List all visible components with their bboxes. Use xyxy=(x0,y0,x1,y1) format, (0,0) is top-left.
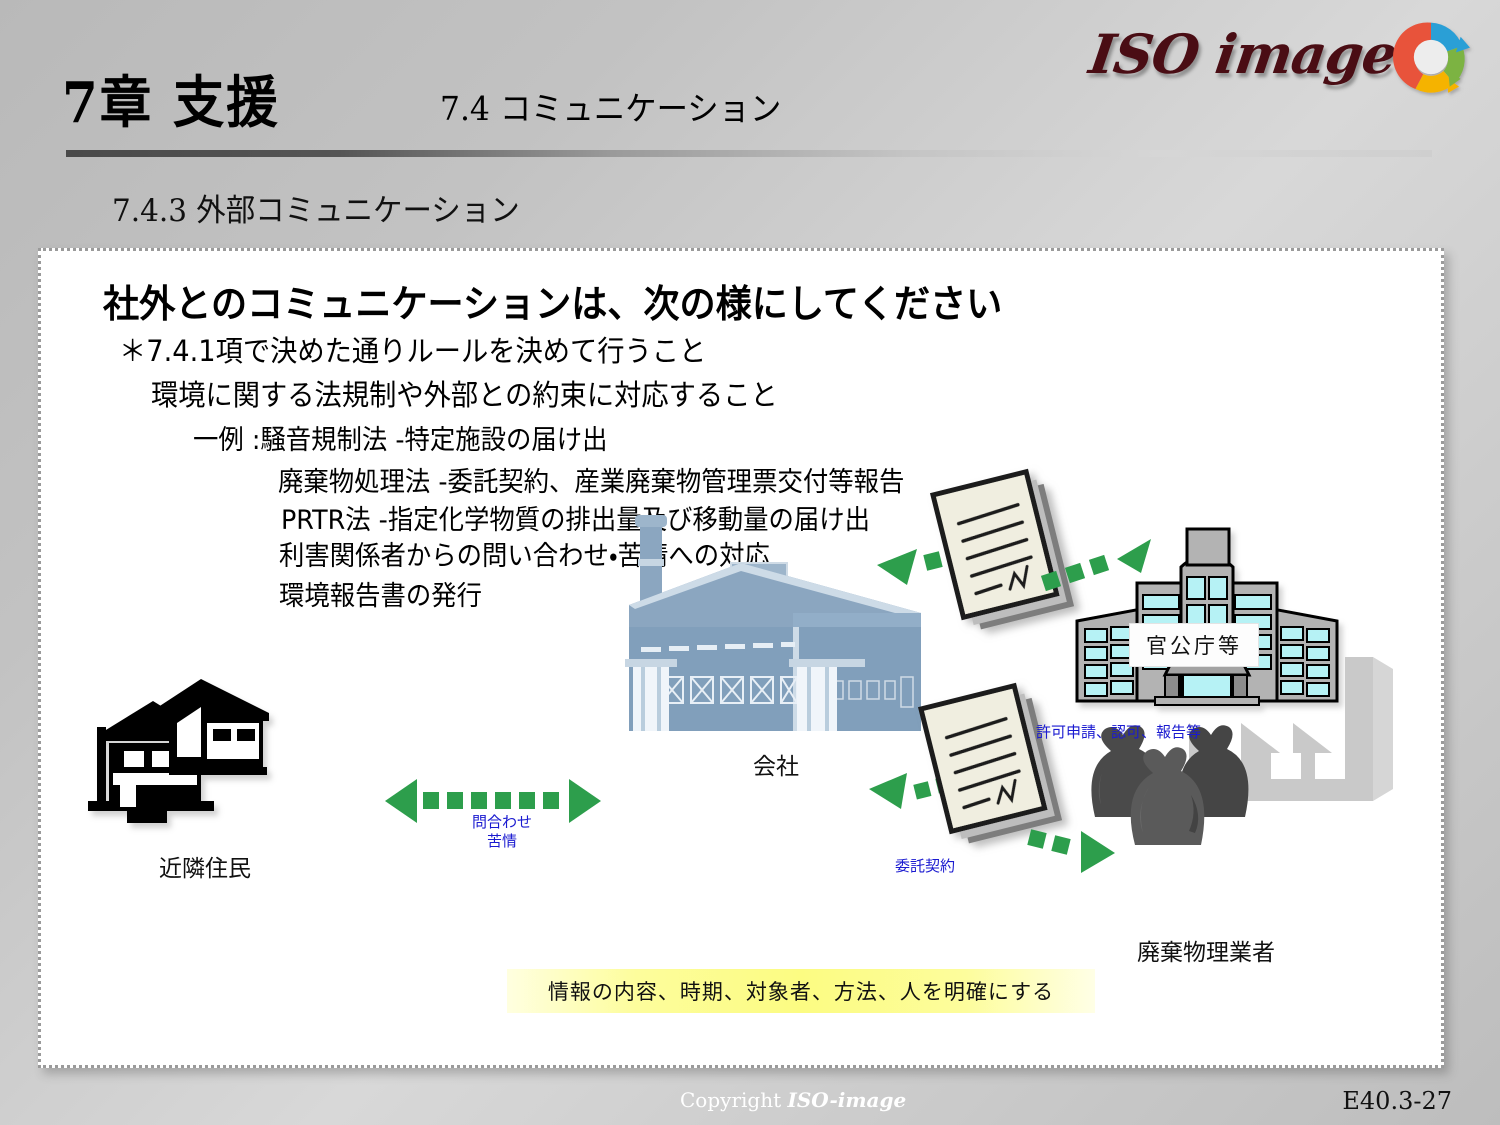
garbage-bags-icon xyxy=(1091,725,1248,845)
body-line-4: 廃棄物処理法 -委託契約、産業廃棄物管理票交付等報告 xyxy=(278,469,904,496)
panel-heading: 社外とのコミュニケーションは、次の様にしてください xyxy=(103,273,1002,328)
iso-image-logo: ISO image xyxy=(1078,8,1478,108)
label-arrow-government: 許可申請、認可、報告等 xyxy=(1036,723,1201,742)
residents-houses-icon xyxy=(88,679,269,823)
page-code: E40.3-27 xyxy=(1342,1087,1452,1115)
summary-banner-text: 情報の内容、時期、対象者、方法、人を明確にする xyxy=(548,976,1054,1006)
copyright-brand: ISO-image xyxy=(787,1088,906,1112)
slide-footer: Copyright ISO-image E40.3-27 xyxy=(0,1080,1500,1125)
copyright-notice: Copyright ISO-image xyxy=(680,1088,906,1112)
body-line-3: 一例 :騒音規制法 -特定施設の届け出 xyxy=(193,427,608,454)
label-government-tag: 官公庁等 xyxy=(1129,623,1259,667)
document-icon-contract xyxy=(921,682,1062,846)
label-company: 会社 xyxy=(681,747,871,781)
copyright-prefix: Copyright xyxy=(680,1088,781,1112)
body-line-1: ＊7.4.1項で決めた通りルールを決めて行うこと xyxy=(119,337,706,366)
section-title: 7.4.3 外部コミュニケーション xyxy=(112,185,520,230)
label-waste-company: 廃棄物理業者 xyxy=(1081,933,1331,967)
content-panel: 社外とのコミュニケーションは、次の様にしてください ＊7.4.1項で決めた通りル… xyxy=(38,248,1444,1068)
arrow-doc-waste xyxy=(1027,829,1115,873)
label-arrow-residents-line2: 苦情 xyxy=(487,832,517,850)
label-arrow-residents-line1: 問合わせ xyxy=(472,813,532,831)
subject-title: 7.4 コミュニケーション xyxy=(440,82,781,130)
logo-wordmark: ISO image xyxy=(1086,22,1401,86)
communication-diagram: 近隣住民 問合わせ 苦情 会社 官公庁等 許可申請、認可、報告等 委託契約 廃棄… xyxy=(41,501,1447,981)
label-arrow-residents: 問合わせ 苦情 xyxy=(447,813,557,851)
diagram-canvas xyxy=(41,501,1447,981)
summary-banner: 情報の内容、時期、対象者、方法、人を明確にする xyxy=(507,969,1095,1013)
company-factory-icon xyxy=(625,515,921,731)
color-wheel-icon xyxy=(1392,18,1470,96)
document-icon-permit xyxy=(933,468,1074,632)
label-arrow-waste: 委託契約 xyxy=(895,857,955,876)
chapter-title: 7章 支援 xyxy=(62,58,280,139)
body-line-2: 環境に関する法規制や外部との約束に対応すること xyxy=(151,381,778,410)
label-residents: 近隣住民 xyxy=(115,849,295,883)
government-building-icon xyxy=(1077,529,1337,705)
slide-root: 7章 支援 7.4 コミュニケーション 7.4.3 外部コミュニケーション IS… xyxy=(0,0,1500,1125)
header-divider xyxy=(66,150,1432,157)
